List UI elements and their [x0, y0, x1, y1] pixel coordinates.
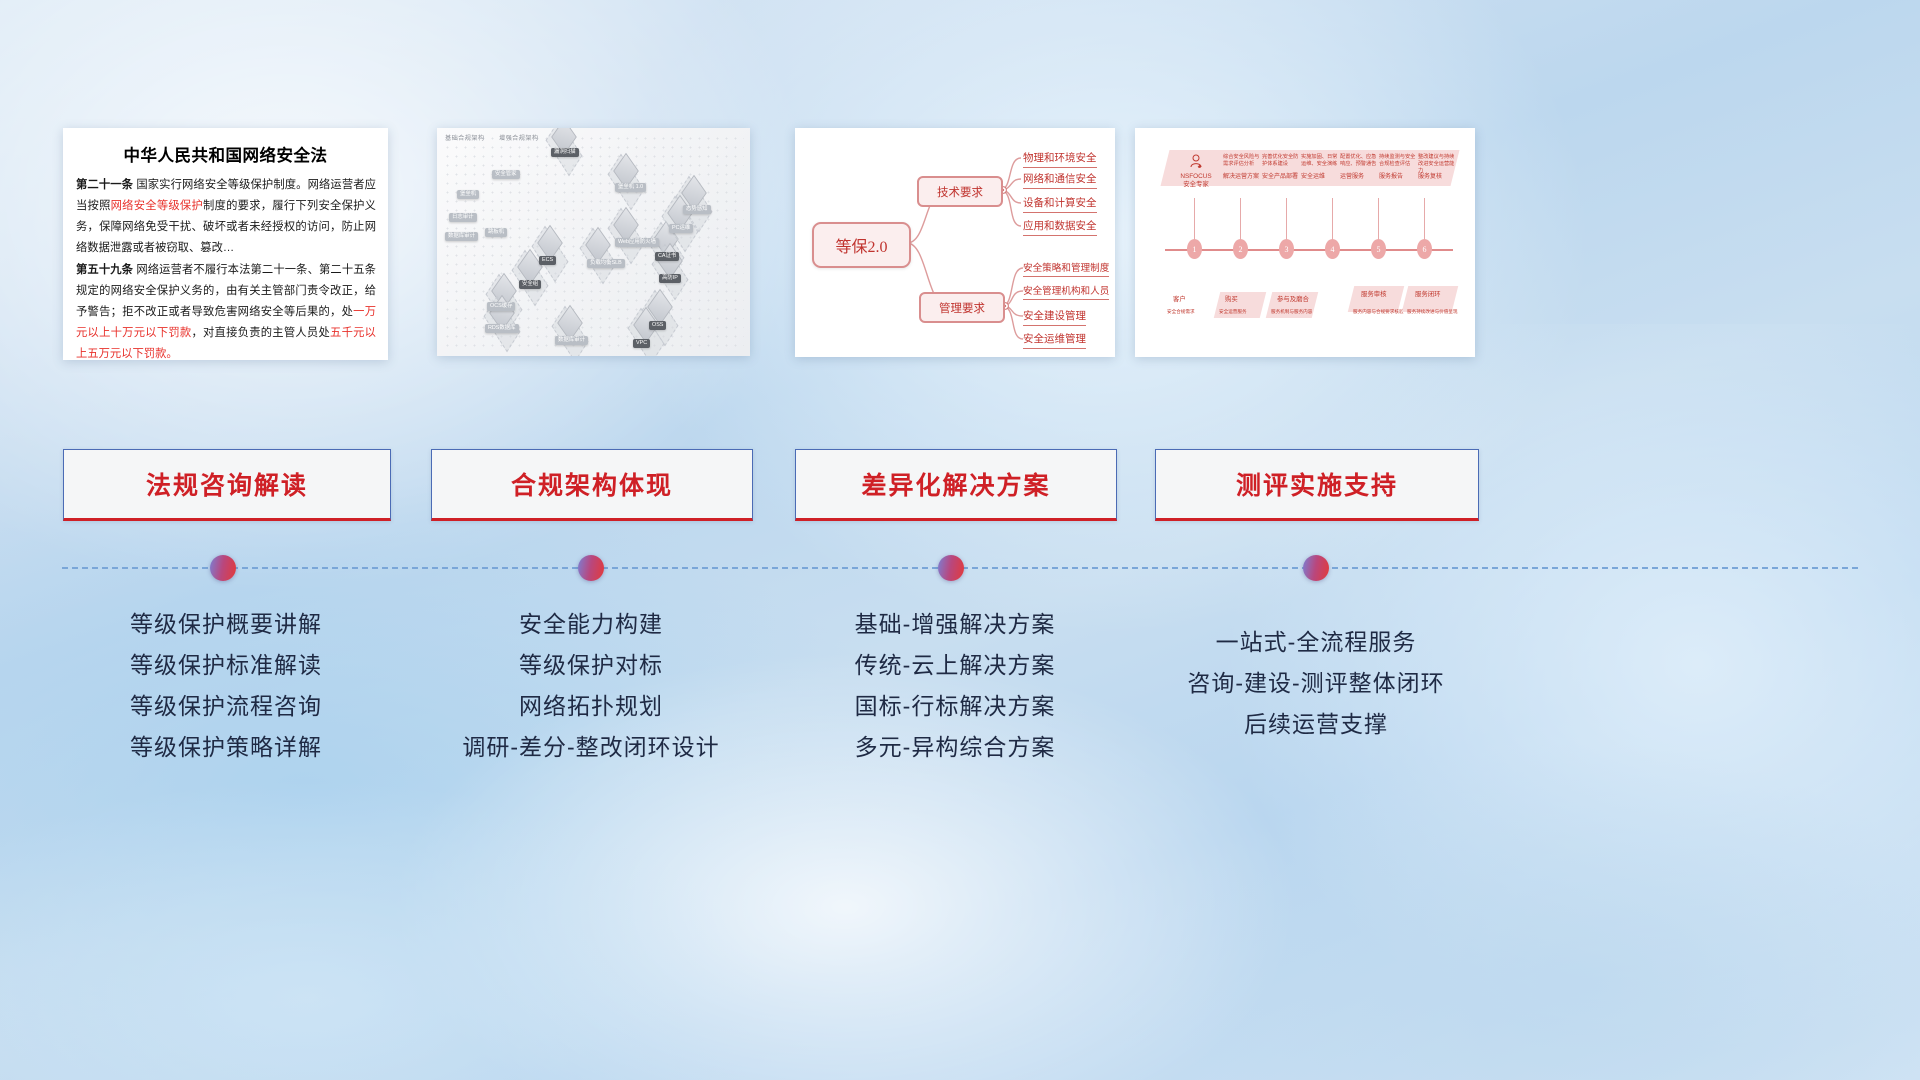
background-glow	[0, 778, 768, 1080]
nsfocus-band-top-label: 配置优化、应急响应、预警通告	[1340, 154, 1380, 168]
nsfocus-step-marker[interactable]: 3	[1279, 239, 1294, 259]
nsfocus-band-bottom-label: 运营服务	[1340, 174, 1364, 181]
architecture-chip: 跳板机	[485, 228, 507, 237]
architecture-header-left: 基础合规架构	[445, 133, 485, 142]
description-line: 传统-云上解决方案	[795, 645, 1115, 686]
architecture-card[interactable]: 基础合规架构 增强合规架构 安全管家堡垒机日志审计数据库审计跳板机ECS负载均衡…	[437, 128, 750, 356]
architecture-chip: Web应用防火墙	[615, 238, 659, 247]
nsfocus-step-marker[interactable]: 6	[1417, 239, 1432, 259]
timeline-dot-1[interactable]	[210, 555, 236, 581]
mindmap-leaf[interactable]: 物理和环境安全	[1023, 150, 1097, 168]
nsfocus-left-tag-label: 参与及磨合	[1277, 296, 1309, 303]
timeline	[0, 567, 1920, 569]
nsfocus-tick	[1286, 198, 1287, 240]
architecture-chip: PC运维	[669, 224, 693, 233]
nsfocus-tick	[1378, 198, 1379, 240]
mindmap-leaf[interactable]: 网络和通信安全	[1023, 171, 1097, 189]
nsfocus-tick	[1194, 198, 1195, 240]
description-line: 安全能力构建	[431, 604, 751, 645]
nsfocus-left-tag-label: 购买	[1225, 296, 1238, 303]
label-text: 测评实施支持	[1236, 466, 1398, 502]
mindmap: 等保2.0 技术要求 管理要求 物理和环境安全 网络和通信安全 设备和计算安全 …	[795, 128, 1115, 357]
nsfocus-left-tag-sub: 服务机制与服务内容	[1271, 308, 1312, 315]
architecture-chip: 堡垒机 1.0	[615, 183, 646, 192]
architecture-chip: OSS	[649, 321, 666, 330]
nsfocus-band-bottom-label: 解决运营方案	[1223, 174, 1259, 181]
law-run: ，对直接负责的主管人员处	[191, 327, 330, 339]
mindmap-leaf[interactable]: 安全建设管理	[1023, 308, 1086, 326]
nsfocus-timeline-card[interactable]: NSFOCUS 安全专家 综合安全风险与需求评估分析解决运营方案完善优化安全防护…	[1135, 128, 1475, 357]
description-line: 后续运营支撑	[1155, 704, 1477, 745]
mindmap-root-node[interactable]: 等保2.0	[812, 222, 911, 268]
nsfocus-tick	[1424, 198, 1425, 240]
nsfocus-band-bottom-label: 安全产品部署	[1262, 174, 1298, 181]
label-text: 法规咨询解读	[146, 466, 308, 502]
architecture-chip: 负载均衡SLB	[587, 259, 625, 268]
mindmap-leaf[interactable]: 安全策略和管理制度	[1023, 260, 1109, 277]
nsfocus-left-tag-sub: 安全运营服务	[1219, 308, 1247, 315]
label-box-3[interactable]: 差异化解决方案	[795, 449, 1117, 521]
architecture-chip: VPC	[633, 339, 650, 348]
description-line: 等级保护对标	[431, 645, 751, 686]
architecture-chip: 态势感知	[683, 205, 711, 214]
architecture-chip: 安全管家	[492, 170, 520, 179]
description-line: 等级保护标准解读	[63, 645, 389, 686]
law-article-number: 第二十一条	[76, 179, 133, 191]
mindmap-leaf[interactable]: 安全管理机构和人员	[1023, 283, 1109, 300]
mindmap-branch-management[interactable]: 管理要求	[919, 292, 1005, 323]
person-icon	[1188, 154, 1204, 168]
architecture-chip: 漏洞扫描	[551, 148, 579, 157]
law-paragraph: 第五十九条 网络运营者不履行本法第二十一条、第二十五条规定的网络安全保护义务的，…	[76, 260, 376, 360]
law-card[interactable]: 中华人民共和国网络安全法 第二十一条 国家实行网络安全等级保护制度。网络运营者应…	[63, 128, 388, 360]
architecture-chip: 数据库审计	[445, 232, 478, 241]
timeline-dot-4[interactable]	[1303, 555, 1329, 581]
architecture-chip: RDS数据库	[485, 324, 519, 333]
image-card-row: 中华人民共和国网络安全法 第二十一条 国家实行网络安全等级保护制度。网络运营者应…	[0, 128, 1920, 360]
architecture-header-right: 增强合规架构	[499, 133, 539, 142]
label-text: 差异化解决方案	[861, 466, 1050, 502]
nsfocus-tick	[1240, 198, 1241, 240]
architecture-chip: 安全组	[519, 280, 541, 289]
law-paragraph: 第二十一条 国家实行网络安全等级保护制度。网络运营者应当按照网络安全等级保护制度…	[76, 175, 376, 259]
architecture-chip: 堡垒机	[457, 190, 479, 199]
description-line: 国标-行标解决方案	[795, 686, 1115, 727]
nsfocus-diagram: NSFOCUS 安全专家 综合安全风险与需求评估分析解决运营方案完善优化安全防护…	[1135, 128, 1475, 357]
description-line: 一站式-全流程服务	[1155, 622, 1477, 663]
mindmap-card[interactable]: 等保2.0 技术要求 管理要求 物理和环境安全 网络和通信安全 设备和计算安全 …	[795, 128, 1115, 357]
description-column-3: 基础-增强解决方案 传统-云上解决方案 国标-行标解决方案 多元-异构综合方案	[795, 604, 1115, 768]
law-card-body: 第二十一条 国家实行网络安全等级保护制度。网络运营者应当按照网络安全等级保护制度…	[63, 175, 388, 360]
timeline-dot-2[interactable]	[578, 555, 604, 581]
nsfocus-band-top-label: 完善优化安全防护体系建设	[1262, 154, 1302, 168]
label-box-4[interactable]: 测评实施支持	[1155, 449, 1479, 521]
nsfocus-band-top-label: 实施加固、日常运维、安全演练	[1301, 154, 1341, 168]
architecture-chip: CA证书	[655, 252, 679, 261]
nsfocus-band-bottom-label: 安全运维	[1301, 174, 1325, 181]
law-article-number: 第五十九条	[76, 264, 133, 276]
law-run-highlight: 网络安全等级保护	[111, 200, 203, 212]
architecture-chip: 高防IP	[659, 274, 681, 283]
nsfocus-left-tag-sub: 安全合规需求	[1167, 308, 1195, 315]
nsfocus-band-bottom-label: 服务报告	[1379, 174, 1403, 181]
description-line: 基础-增强解决方案	[795, 604, 1115, 645]
nsfocus-band-top-label: 整改建议与持续改进安全运营能力	[1418, 154, 1458, 175]
law-card-title: 中华人民共和国网络安全法	[63, 142, 388, 166]
description-columns: 等级保护概要讲解 等级保护标准解读 等级保护流程咨询 等级保护策略详解 安全能力…	[0, 604, 1920, 804]
nsfocus-tick	[1332, 198, 1333, 240]
mindmap-leaf[interactable]: 安全运维管理	[1023, 331, 1086, 349]
description-line: 等级保护流程咨询	[63, 686, 389, 727]
architecture-chip: 数据库审计	[555, 336, 588, 345]
nsfocus-step-marker[interactable]: 1	[1187, 239, 1202, 259]
nsfocus-brand: NSFOCUS	[1173, 173, 1219, 181]
description-line: 咨询-建设-测评整体闭环	[1155, 663, 1477, 704]
nsfocus-brand-sub: 安全专家	[1173, 181, 1219, 189]
description-column-1: 等级保护概要讲解 等级保护标准解读 等级保护流程咨询 等级保护策略详解	[63, 604, 389, 768]
label-text: 合规架构体现	[511, 466, 673, 502]
nsfocus-band-top-label: 综合安全风险与需求评估分析	[1223, 154, 1263, 168]
nsfocus-right-tag-label: 服务审核	[1361, 291, 1387, 298]
nsfocus-step-marker[interactable]: 4	[1325, 239, 1340, 259]
nsfocus-right-tag-label: 服务闭环	[1415, 291, 1441, 298]
nsfocus-axis	[1165, 249, 1453, 251]
description-line: 多元-异构综合方案	[795, 727, 1115, 768]
description-line: 等级保护策略详解	[63, 727, 389, 768]
nsfocus-step-marker[interactable]: 5	[1371, 239, 1386, 259]
architecture-diagram: 基础合规架构 增强合规架构 安全管家堡垒机日志审计数据库审计跳板机ECS负载均衡…	[437, 128, 750, 356]
mindmap-branch-technical[interactable]: 技术要求	[917, 176, 1003, 207]
architecture-chip: OCS缓存	[487, 302, 515, 311]
mindmap-leaf[interactable]: 设备和计算安全	[1023, 195, 1097, 213]
nsfocus-left-tag-label: 客户	[1173, 296, 1186, 303]
label-box-1[interactable]: 法规咨询解读	[63, 449, 391, 521]
mindmap-leaf[interactable]: 应用和数据安全	[1023, 218, 1097, 236]
nsfocus-band-bottom-label: 服务复核	[1418, 174, 1442, 181]
timeline-dot-3[interactable]	[938, 555, 964, 581]
nsfocus-step-marker[interactable]: 2	[1233, 239, 1248, 259]
nsfocus-right-tag-sub: 服务持续改进与价值呈现	[1407, 308, 1458, 315]
architecture-chip: 日志审计	[449, 213, 477, 222]
label-row: 法规咨询解读 合规架构体现 差异化解决方案 测评实施支持	[0, 449, 1920, 517]
label-box-2[interactable]: 合规架构体现	[431, 449, 753, 521]
description-column-4: 一站式-全流程服务 咨询-建设-测评整体闭环 后续运营支撑	[1155, 622, 1477, 745]
nsfocus-right-tag-sub: 服务内容与合规要求核验	[1353, 308, 1404, 315]
architecture-chip: ECS	[539, 256, 556, 265]
description-column-2: 安全能力构建 等级保护对标 网络拓扑规划 调研-差分-整改闭环设计	[431, 604, 751, 768]
nsfocus-band-top-label: 持续监测与安全合规检查评估	[1379, 154, 1419, 168]
description-line: 调研-差分-整改闭环设计	[431, 727, 751, 768]
slide-canvas: 中华人民共和国网络安全法 第二十一条 国家实行网络安全等级保护制度。网络运营者应…	[0, 0, 1920, 1080]
nsfocus-brand-block: NSFOCUS 安全专家	[1173, 154, 1219, 189]
description-line: 网络拓扑规划	[431, 686, 751, 727]
description-line: 等级保护概要讲解	[63, 604, 389, 645]
